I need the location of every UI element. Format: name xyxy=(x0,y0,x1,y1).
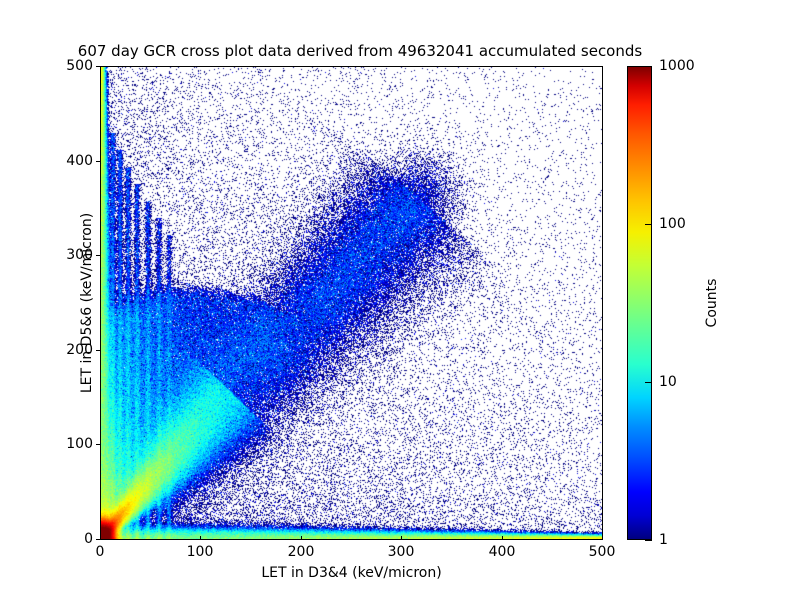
ytick-mark-200 xyxy=(96,350,100,351)
cbtick-mark-10 xyxy=(645,382,652,383)
xtick-mark-200 xyxy=(301,536,302,540)
xtick-mark-400 xyxy=(502,536,503,540)
xtick-label-100: 100 xyxy=(187,544,214,560)
ytick-mark-500 xyxy=(96,66,100,67)
xtick-mark-0 xyxy=(100,536,101,540)
title-line-1: 607 day GCR cross plot data derived from… xyxy=(0,42,720,60)
xtick-label-400: 400 xyxy=(489,544,516,560)
xtick-mark-100 xyxy=(200,536,201,540)
cbtick-label-1: 1 xyxy=(659,532,668,548)
colorbar-gradient xyxy=(627,66,652,540)
ytick-mark-300 xyxy=(96,255,100,256)
cbtick-mark-100 xyxy=(645,224,652,225)
xtick-label-300: 300 xyxy=(388,544,415,560)
xtick-label-500: 500 xyxy=(589,544,616,560)
cbtick-mark-1000 xyxy=(645,66,652,67)
cbtick-label-100: 100 xyxy=(659,216,686,232)
cbtick-mark-1 xyxy=(645,540,652,541)
cbtick-label-10: 10 xyxy=(659,374,677,390)
figure-canvas: 607 day GCR cross plot data derived from… xyxy=(0,0,800,600)
ytick-mark-0 xyxy=(96,539,100,540)
ytick-mark-100 xyxy=(96,444,100,445)
colorbar-label: Counts xyxy=(704,203,720,403)
ytick-mark-400 xyxy=(96,161,100,162)
colorbar: 1 10 100 1000 xyxy=(627,66,652,540)
xtick-label-0: 0 xyxy=(96,544,105,560)
scatter-density-canvas xyxy=(101,67,602,539)
y-axis-label: LET in D5&6 (keV/micron) xyxy=(79,66,95,540)
xtick-mark-300 xyxy=(401,536,402,540)
xtick-label-200: 200 xyxy=(288,544,315,560)
x-axis-label: LET in D3&4 (keV/micron) xyxy=(100,565,603,581)
xtick-mark-500 xyxy=(602,536,603,540)
cbtick-label-1000: 1000 xyxy=(659,58,695,74)
plot-area xyxy=(100,66,603,540)
